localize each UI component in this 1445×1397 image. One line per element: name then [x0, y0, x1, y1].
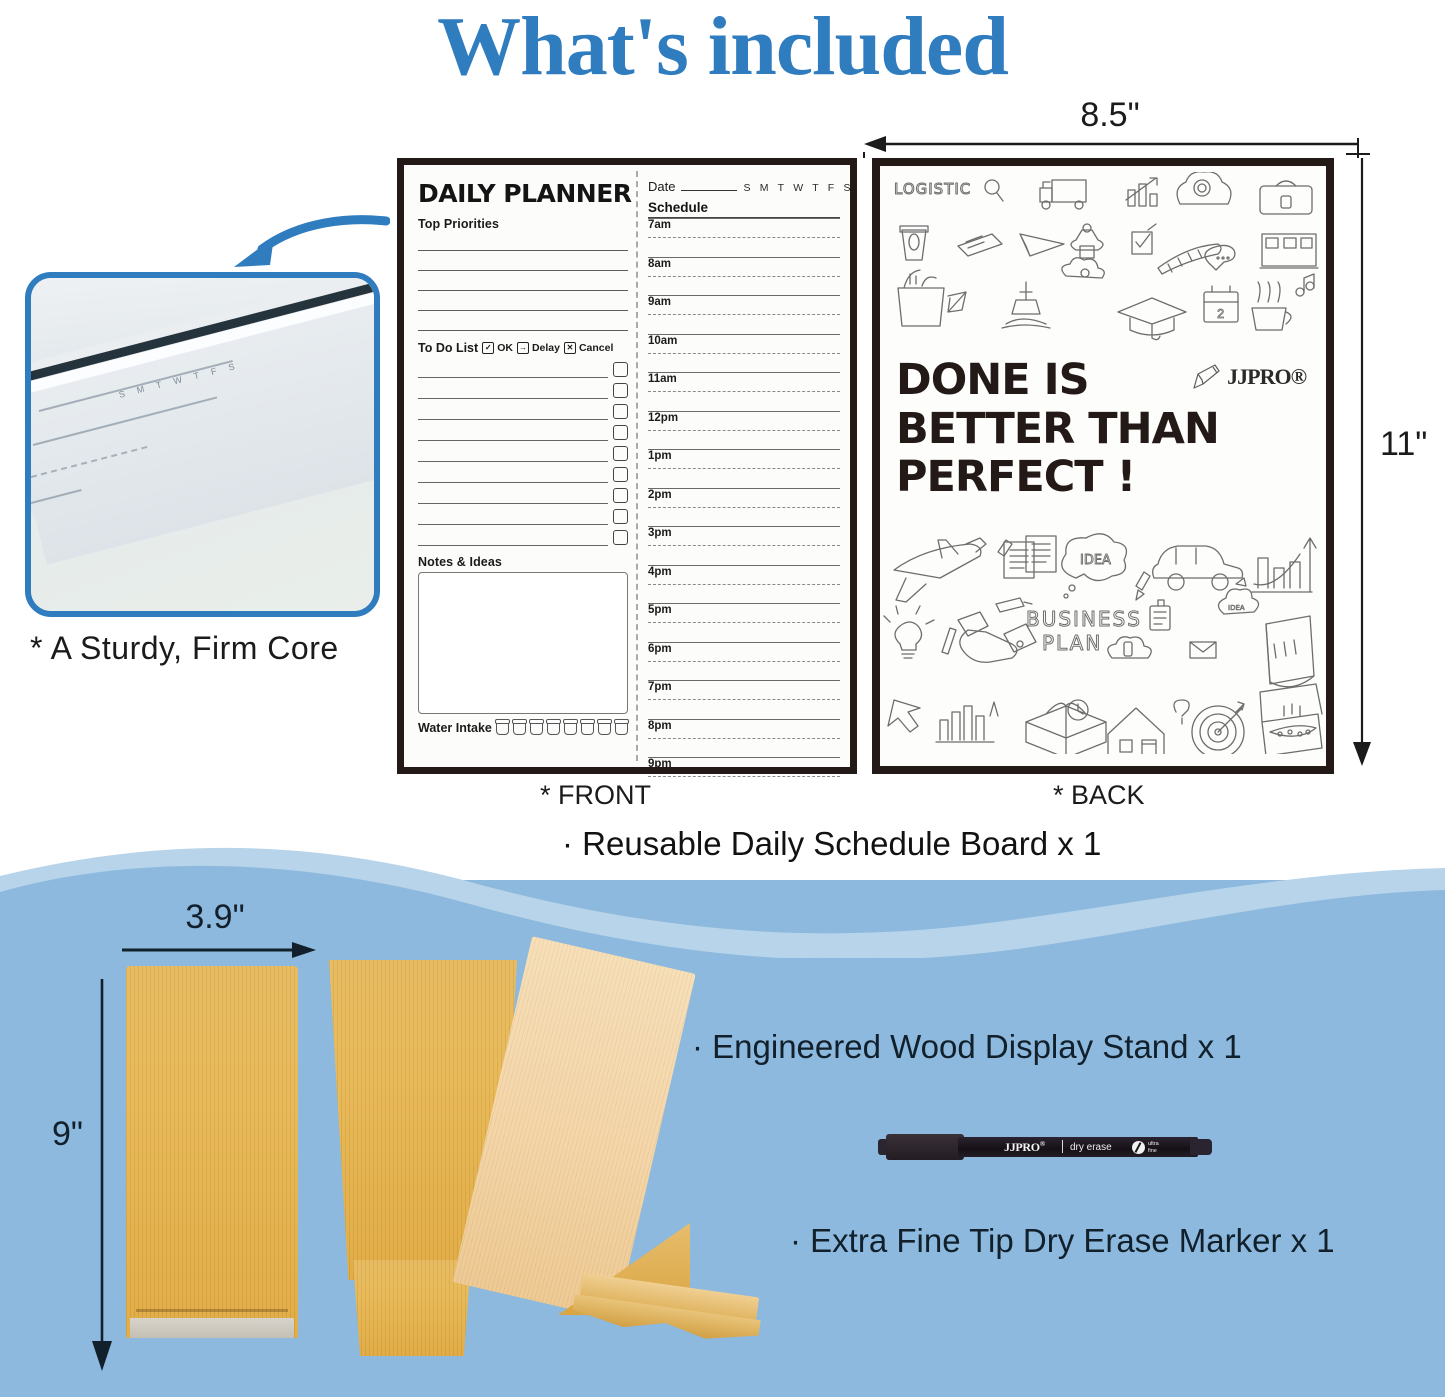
todo-checkbox[interactable]: [613, 530, 628, 545]
schedule-row[interactable]: 11am: [648, 372, 840, 411]
schedule-solid-line: [648, 295, 840, 296]
wood-stand-side-view: [520, 955, 770, 1360]
dimension-board-width-label: 8.5": [860, 96, 1360, 135]
marker-brand-text: JJPRO®: [1004, 1140, 1045, 1155]
schedule-solid-line: [648, 680, 840, 681]
todo-write-line[interactable]: [418, 426, 608, 441]
schedule-time-label: 2pm: [648, 489, 672, 501]
dimension-stand-height-label: 9": [52, 1115, 83, 1154]
schedule-row[interactable]: 4pm: [648, 565, 840, 604]
notes-box[interactable]: [418, 572, 628, 714]
day-initials: S M T W T F S: [743, 182, 853, 194]
schedule-label: Schedule: [648, 200, 840, 218]
jjpro-logo: JJPRO®: [1189, 362, 1306, 392]
todo-row[interactable]: [418, 378, 628, 399]
schedule-row[interactable]: 7pm: [648, 680, 840, 719]
schedule-row[interactable]: 5pm: [648, 603, 840, 642]
doodle-illustrations-top: LOGISTIC: [880, 172, 1326, 352]
water-cup-icon[interactable]: [581, 721, 594, 735]
dimension-board-height-label: 11": [1380, 425, 1427, 464]
back-quote-line-2: BETTER THAN: [896, 405, 1326, 454]
sturdy-core-photo: S M T W T F S: [25, 272, 380, 617]
stand-item-caption: · Engineered Wood Display Stand x 1: [692, 1028, 1242, 1066]
schedule-time-label: 9pm: [648, 758, 672, 770]
schedule-rows[interactable]: 7am8am9am10am11am12pm1pm2pm3pm4pm5pm6pm7…: [648, 218, 840, 796]
date-row[interactable]: Date S M T W T F S: [648, 179, 840, 194]
todo-legend-cancel: ✕ Cancel: [564, 342, 613, 354]
schedule-half-hour-line: [648, 353, 840, 354]
schedule-solid-line: [648, 449, 840, 450]
jjpro-brand-text: JJPRO®: [1227, 364, 1306, 390]
schedule-row[interactable]: 1pm: [648, 449, 840, 488]
cross-icon: ✕: [564, 342, 576, 354]
dimension-board-height: 11": [1336, 150, 1441, 770]
todo-row[interactable]: [418, 399, 628, 420]
todo-row[interactable]: [418, 525, 628, 546]
todo-checkbox[interactable]: [613, 446, 628, 461]
marker-tip-text: ultrafine: [1148, 1141, 1159, 1153]
pen-icon: [1189, 362, 1223, 392]
todo-write-line[interactable]: [418, 384, 608, 399]
todo-legend-delay-label: Delay: [532, 342, 560, 354]
schedule-half-hour-line: [648, 661, 840, 662]
schedule-solid-line: [648, 372, 840, 373]
schedule-solid-line: [648, 218, 840, 219]
schedule-half-hour-line: [648, 468, 840, 469]
water-cup-icon[interactable]: [547, 721, 560, 735]
planner-front-left-column: DAILY PLANNER Top Priorities To Do List …: [404, 165, 636, 767]
todo-write-line[interactable]: [418, 531, 608, 546]
schedule-half-hour-line: [648, 430, 840, 431]
todo-row[interactable]: [418, 357, 628, 378]
todo-write-line[interactable]: [418, 363, 608, 378]
todo-row[interactable]: [418, 483, 628, 504]
todo-row[interactable]: [418, 462, 628, 483]
todo-list-label: To Do List: [418, 341, 478, 355]
todo-write-line[interactable]: [418, 405, 608, 420]
schedule-half-hour-line: [648, 314, 840, 315]
svg-text:PLAN: PLAN: [1042, 631, 1102, 655]
schedule-half-hour-line: [648, 276, 840, 277]
schedule-row[interactable]: 8pm: [648, 719, 840, 758]
schedule-row[interactable]: 3pm: [648, 526, 840, 565]
schedule-time-label: 11am: [648, 373, 677, 385]
todo-checkbox[interactable]: [613, 425, 628, 440]
schedule-half-hour-line: [648, 622, 840, 623]
planner-back-board: LOGISTIC: [872, 158, 1334, 774]
marker-tip-badge: ultrafine: [1132, 1141, 1159, 1154]
schedule-time-label: 8pm: [648, 720, 672, 732]
schedule-half-hour-line: [648, 584, 840, 585]
todo-legend-cancel-label: Cancel: [579, 342, 613, 354]
svg-text:LOGISTIC: LOGISTIC: [894, 180, 971, 198]
schedule-half-hour-line: [648, 545, 840, 546]
marker-separator: [1062, 1140, 1063, 1153]
schedule-row[interactable]: 2pm: [648, 488, 840, 527]
infographic-canvas: What's included S M T W T F S: [0, 0, 1445, 1397]
water-cup-icon[interactable]: [513, 721, 526, 735]
water-cup-icon[interactable]: [530, 721, 543, 735]
schedule-solid-line: [648, 603, 840, 604]
water-intake-row[interactable]: Water Intake: [418, 721, 628, 735]
schedule-solid-line: [648, 488, 840, 489]
svg-text:IDEA: IDEA: [1080, 553, 1111, 568]
planner-front-board: DAILY PLANNER Top Priorities To Do List …: [397, 158, 857, 774]
todo-write-line[interactable]: [418, 468, 608, 483]
planner-column-divider: [636, 171, 638, 761]
water-cup-icon[interactable]: [598, 721, 611, 735]
board-item-caption: · Reusable Daily Schedule Board x 1: [562, 825, 1101, 863]
schedule-time-label: 4pm: [648, 566, 672, 578]
water-intake-label: Water Intake: [418, 721, 492, 735]
water-cup-icon[interactable]: [496, 721, 509, 735]
dimension-stand-width-label: 3.9": [110, 898, 320, 937]
schedule-row[interactable]: 7am: [648, 218, 840, 257]
schedule-row[interactable]: 12pm: [648, 411, 840, 450]
top-priorities-lines[interactable]: [418, 250, 628, 331]
todo-row[interactable]: [418, 504, 628, 525]
schedule-time-label: 8am: [648, 258, 671, 270]
schedule-row[interactable]: 9pm: [648, 757, 840, 796]
schedule-solid-line: [648, 719, 840, 720]
schedule-row[interactable]: 10am: [648, 334, 840, 373]
marker-type-text: dry erase: [1070, 1142, 1112, 1153]
water-cup-icon[interactable]: [615, 721, 628, 735]
schedule-half-hour-line: [648, 699, 840, 700]
doodle-illustrations-bottom: IDEA: [880, 526, 1326, 754]
wood-stand-front-view: [126, 966, 298, 1338]
check-icon: ✓: [482, 342, 494, 354]
arrow-right-icon: →: [517, 342, 529, 354]
schedule-time-label: 5pm: [648, 604, 672, 616]
todo-write-line[interactable]: [418, 489, 608, 504]
schedule-row[interactable]: 9am: [648, 295, 840, 334]
sturdy-core-caption: * A Sturdy, Firm Core: [30, 630, 400, 667]
pen-tip-icon: [1132, 1141, 1145, 1154]
schedule-time-label: 7am: [648, 219, 671, 231]
schedule-row[interactable]: 6pm: [648, 642, 840, 681]
todo-row[interactable]: [418, 441, 628, 462]
svg-text:2: 2: [1217, 306, 1224, 321]
date-input-line[interactable]: [681, 180, 737, 191]
todo-checkbox[interactable]: [613, 383, 628, 398]
todo-legend-delay: → Delay: [517, 342, 560, 354]
schedule-time-label: 7pm: [648, 681, 672, 693]
planner-schedule-column: Date S M T W T F S Schedule 7am8am9am10a…: [636, 165, 850, 767]
front-caption: * FRONT: [540, 780, 651, 811]
schedule-half-hour-line: [648, 776, 840, 777]
marker-item-caption: · Extra Fine Tip Dry Erase Marker x 1: [790, 1222, 1335, 1260]
schedule-time-label: 1pm: [648, 450, 672, 462]
top-priorities-label: Top Priorities: [418, 217, 628, 231]
schedule-time-label: 9am: [648, 296, 671, 308]
schedule-solid-line: [648, 642, 840, 643]
back-quote-line-3: PERFECT !: [896, 453, 1326, 502]
todo-row[interactable]: [418, 420, 628, 441]
todo-checkbox[interactable]: [613, 362, 628, 377]
schedule-half-hour-line: [648, 391, 840, 392]
todo-list-header: To Do List ✓ OK → Delay ✕ Cancel: [418, 341, 628, 355]
notes-label: Notes & Ideas: [418, 555, 628, 569]
schedule-half-hour-line: [648, 237, 840, 238]
schedule-time-label: 10am: [648, 335, 677, 347]
svg-text:BUSINESS: BUSINESS: [1026, 607, 1142, 631]
todo-write-line[interactable]: [418, 510, 608, 525]
schedule-row[interactable]: 8am: [648, 257, 840, 296]
date-label: Date: [648, 179, 675, 194]
schedule-time-label: 6pm: [648, 643, 672, 655]
todo-checkbox[interactable]: [613, 404, 628, 419]
schedule-solid-line: [648, 565, 840, 566]
dimension-board-width: 8.5": [860, 96, 1360, 158]
water-cups[interactable]: [495, 721, 628, 735]
schedule-half-hour-line: [648, 507, 840, 508]
svg-text:IDEA: IDEA: [1228, 604, 1245, 612]
water-cup-icon[interactable]: [564, 721, 577, 735]
todo-write-line[interactable]: [418, 447, 608, 462]
schedule-half-hour-line: [648, 738, 840, 739]
schedule-solid-line: [648, 257, 840, 258]
todo-checkbox[interactable]: [613, 509, 628, 524]
schedule-solid-line: [648, 526, 840, 527]
schedule-time-label: 3pm: [648, 527, 672, 539]
todo-rows[interactable]: [418, 357, 628, 546]
todo-legend-ok: ✓ OK: [482, 342, 513, 354]
back-caption: * BACK: [1053, 780, 1145, 811]
todo-legend-ok-label: OK: [497, 342, 513, 354]
dry-erase-marker: JJPRO® dry erase ultrafine: [886, 1131, 1216, 1163]
schedule-time-label: 12pm: [648, 412, 678, 424]
todo-checkbox[interactable]: [613, 467, 628, 482]
todo-checkbox[interactable]: [613, 488, 628, 503]
dimension-stand-width: 3.9": [110, 900, 320, 970]
schedule-solid-line: [648, 757, 840, 758]
page-title: What's included: [0, 0, 1445, 95]
planner-title: DAILY PLANNER: [418, 179, 628, 208]
